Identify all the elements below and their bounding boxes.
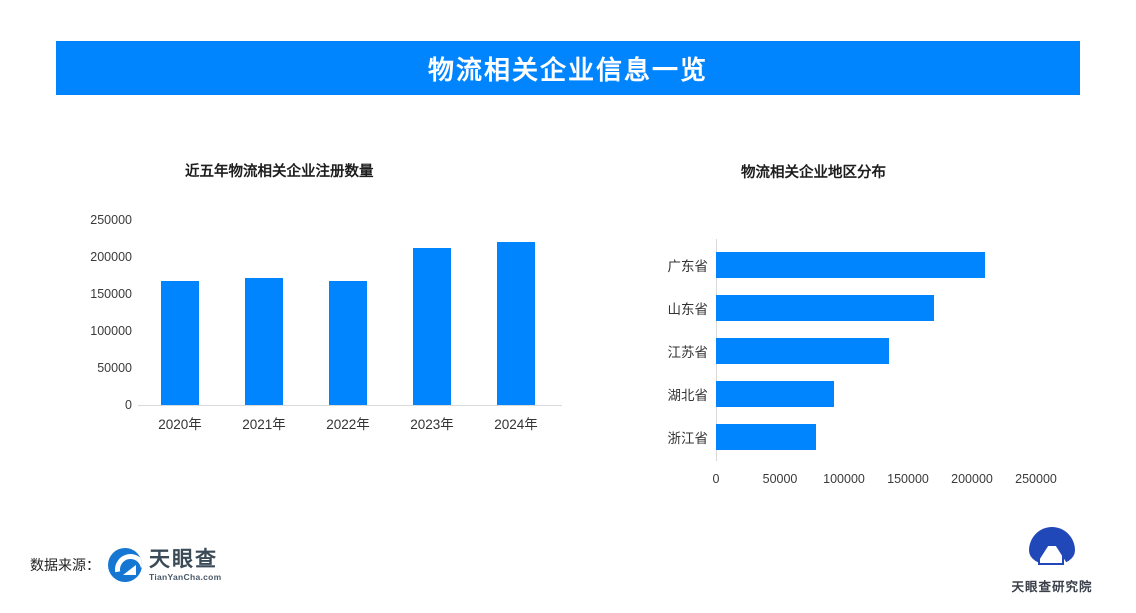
- category-label-row: 湖北省: [640, 381, 708, 407]
- chart-registrations-title: 近五年物流相关企业注册数量: [185, 160, 374, 181]
- category-label: 江苏省: [668, 341, 709, 361]
- y-tick-label: 100000: [90, 324, 132, 338]
- bar-浙江省: [716, 424, 816, 450]
- chart-region-distribution-bars: [716, 243, 1036, 458]
- y-tick-label: 0: [125, 398, 132, 412]
- bar-山东省: [716, 295, 934, 321]
- research-institute-brand: 天眼查研究院: [1000, 527, 1104, 595]
- bar-slot: [138, 220, 222, 405]
- chart-region-distribution-category-axis: 广东省山东省江苏省湖北省浙江省: [640, 243, 708, 458]
- x-tick-slot: 2024年: [474, 413, 558, 434]
- bar-slot: [474, 220, 558, 405]
- y-tick-label: 200000: [90, 250, 132, 264]
- category-label-row: 山东省: [640, 295, 708, 321]
- bar-row: [716, 338, 1036, 364]
- x-tick-slot: 2023年: [390, 413, 474, 434]
- x-tick-slot: 2021年: [222, 413, 306, 434]
- infographic-page: 物流相关企业信息一览 近五年物流相关企业注册数量 250000200000150…: [0, 0, 1136, 613]
- x-tick-label: 2022年: [326, 417, 370, 432]
- category-label-row: 江苏省: [640, 338, 708, 364]
- x-tick-label: 200000: [951, 472, 993, 486]
- x-tick-label: 2021年: [242, 417, 286, 432]
- chart-registrations-plot: [138, 220, 558, 405]
- x-tick-slot: 2022年: [306, 413, 390, 434]
- bar-2022年: [329, 281, 367, 405]
- bar-2021年: [245, 278, 283, 405]
- bar-广东省: [716, 252, 985, 278]
- category-label: 广东省: [668, 255, 709, 275]
- category-label: 湖北省: [668, 384, 709, 404]
- chart-region-distribution-plot: [716, 243, 1036, 458]
- chart-registrations-bars: [138, 220, 558, 405]
- chart-registrations-y-axis: 250000200000150000100000500000: [80, 212, 132, 412]
- header-banner: 物流相关企业信息一览: [56, 41, 1080, 95]
- x-tick-label: 2023年: [410, 417, 454, 432]
- bar-row: [716, 381, 1036, 407]
- x-tick-label: 250000: [1015, 472, 1057, 486]
- x-tick-label: 2020年: [158, 417, 202, 432]
- page-title: 物流相关企业信息一览: [428, 50, 708, 87]
- bar-row: [716, 424, 1036, 450]
- category-label-row: 广东省: [640, 252, 708, 278]
- category-label: 浙江省: [668, 427, 709, 447]
- bar-2023年: [413, 248, 451, 405]
- tianyancha-logo: 天眼查 TianYanCha.com: [108, 548, 222, 582]
- x-tick-slot: 2020年: [138, 413, 222, 434]
- chart-region-distribution: 物流相关企业地区分布 广东省山东省江苏省湖北省浙江省 0500001000001…: [640, 150, 1100, 510]
- tianyancha-research-institute-icon: [1026, 527, 1078, 573]
- x-tick-label: 2024年: [494, 417, 538, 432]
- bar-2020年: [161, 281, 199, 405]
- bar-row: [716, 252, 1036, 278]
- bar-row: [716, 295, 1036, 321]
- chart-registrations-axis-line: [138, 405, 562, 406]
- x-tick-label: 150000: [887, 472, 929, 486]
- x-tick-label: 50000: [763, 472, 798, 486]
- research-institute-name: 天眼查研究院: [1011, 576, 1092, 595]
- x-tick-label: 100000: [823, 472, 865, 486]
- chart-region-distribution-title: 物流相关企业地区分布: [741, 161, 886, 182]
- y-tick-label: 250000: [90, 213, 132, 227]
- tianyancha-logo-en: TianYanCha.com: [149, 573, 222, 582]
- data-source-label: 数据来源：: [30, 555, 100, 575]
- bar-slot: [390, 220, 474, 405]
- bar-江苏省: [716, 338, 889, 364]
- category-label-row: 浙江省: [640, 424, 708, 450]
- bar-湖北省: [716, 381, 834, 407]
- y-tick-label: 50000: [97, 361, 132, 375]
- brand-roof-shape: [1038, 545, 1064, 565]
- bar-2024年: [497, 242, 535, 405]
- chart-region-distribution-x-axis: 050000100000150000200000250000: [716, 472, 1036, 490]
- tianyancha-swirl-icon: [108, 548, 142, 582]
- data-source: 数据来源： 天眼查 TianYanCha.com: [30, 548, 222, 582]
- chart-registrations-x-axis: 2020年2021年2022年2023年2024年: [138, 413, 558, 434]
- x-tick-label: 0: [713, 472, 720, 486]
- bar-slot: [306, 220, 390, 405]
- tianyancha-logo-cn: 天眼查: [149, 549, 222, 570]
- category-label: 山东省: [668, 298, 709, 318]
- y-tick-label: 150000: [90, 287, 132, 301]
- tianyancha-wordmark: 天眼查 TianYanCha.com: [149, 549, 222, 582]
- bar-slot: [222, 220, 306, 405]
- chart-registrations: 近五年物流相关企业注册数量 25000020000015000010000050…: [80, 150, 580, 500]
